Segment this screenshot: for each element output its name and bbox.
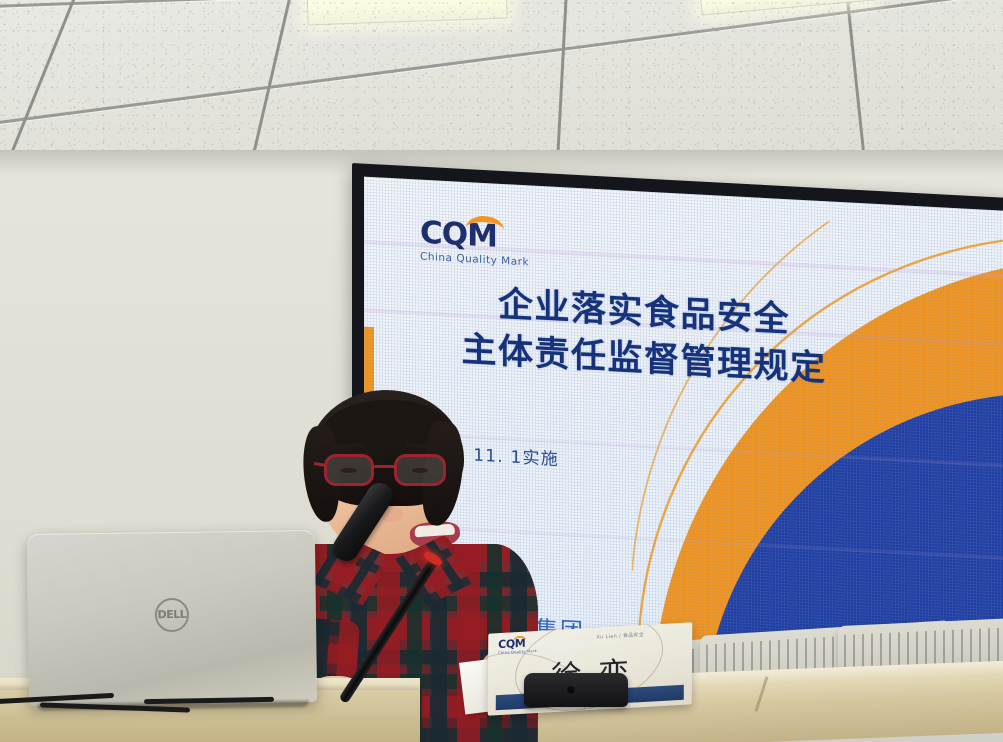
presenter-eye-left	[341, 468, 357, 473]
gooseneck-microphone[interactable]	[372, 478, 552, 708]
dell-laptop[interactable]: DELL	[27, 530, 317, 706]
microphone-mute-button[interactable]	[566, 685, 576, 695]
conference-room-photo: CQM China Quality Mark 企业落实食品安全 主体责任监督管理…	[0, 0, 1003, 742]
slide-cqm-logo: CQM China Quality Mark	[420, 216, 540, 269]
dell-logo-icon: DELL	[155, 597, 189, 631]
microphone-base[interactable]	[524, 673, 628, 707]
cable-3	[144, 697, 274, 704]
cqm-wordmark-wrapper: CQM	[420, 216, 540, 256]
ceiling-rail-vertical-2	[250, 0, 293, 166]
ceiling-light-panel-1	[306, 0, 507, 25]
ceiling-rail-horizontal-1	[0, 0, 1003, 9]
ceiling-rail-vertical-4	[845, 0, 865, 154]
desk-cables	[0, 694, 294, 716]
glasses-bridge	[374, 465, 396, 468]
ceiling-light-panel-2	[699, 0, 876, 16]
ceiling-rail-vertical-3	[556, 0, 568, 165]
cable-2	[40, 702, 190, 712]
presenter-eye-right	[412, 468, 428, 473]
ceiling-rail-horizontal-2	[0, 0, 1003, 129]
